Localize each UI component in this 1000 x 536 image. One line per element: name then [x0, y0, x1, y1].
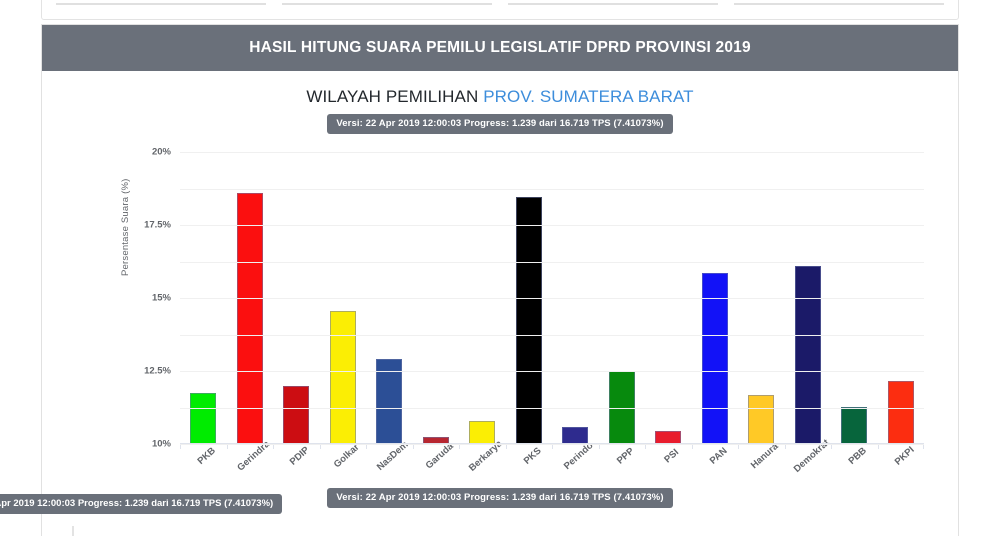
progress-badge: Versi: 22 Apr 2019 12:00:03 Progress: 1.…	[327, 114, 672, 134]
stub-line	[282, 3, 492, 5]
plot-area: PKBGerindraPDIPGolkarNasDemGarudaBerkary…	[180, 152, 924, 444]
bar[interactable]	[888, 381, 914, 444]
x-axis-tick-label: PBB	[847, 445, 869, 467]
y-axis-title: Persentase Suara (%)	[120, 179, 131, 276]
overflow-progress-badge: Versi: 22 Apr 2019 12:00:03 Progress: 1.…	[0, 494, 282, 514]
gridline: 17.5%	[180, 189, 924, 190]
gridline: 0%	[180, 444, 924, 445]
bar[interactable]	[283, 386, 309, 444]
y-axis-tick-label: 15%	[152, 293, 171, 304]
gridline: 10%	[180, 298, 924, 299]
x-axis-tick-label: PAN	[708, 446, 730, 467]
bar[interactable]	[795, 266, 821, 444]
stub-line	[508, 3, 718, 5]
result-card: HASIL HITUNG SUARA PEMILU LEGISLATIF DPR…	[41, 24, 959, 512]
dapil-heading: WILAYAH PEMILIHAN PROV. SUMATERA BARAT	[42, 71, 958, 107]
gridline: 12.5%	[180, 262, 924, 263]
gridline: 20%	[180, 152, 924, 153]
stub-line	[734, 3, 944, 5]
x-axis-tick-label: PSI	[663, 447, 682, 465]
bottom-panel-stub	[41, 512, 959, 536]
x-axis-tick-label: PKPI	[893, 445, 917, 468]
bar[interactable]	[841, 407, 867, 444]
x-axis-tick-label: PKS	[521, 445, 543, 466]
card-body: WILAYAH PEMILIHAN PROV. SUMATERA BARAT V…	[42, 71, 958, 512]
top-panel-stub	[41, 0, 959, 20]
y-axis-tick-label: 20%	[152, 147, 171, 158]
bar[interactable]	[562, 427, 588, 444]
y-axis-tick-label: 17.5%	[144, 220, 171, 231]
dapil-name[interactable]: PROV. SUMATERA BARAT	[483, 87, 693, 106]
stub-line	[56, 3, 266, 5]
x-axis-tick-label: Hanura	[749, 441, 781, 471]
gridline: 2.5%	[180, 408, 924, 409]
bar[interactable]	[237, 193, 263, 444]
progress-badge-row: Versi: 22 Apr 2019 12:00:03 Progress: 1.…	[42, 114, 958, 134]
x-axis-tick-label: Garuda	[423, 441, 455, 471]
gridline: 7.5%	[180, 335, 924, 336]
page-root: HASIL HITUNG SUARA PEMILU LEGISLATIF DPR…	[0, 0, 1000, 536]
x-axis-tick-label: PPP	[615, 446, 636, 467]
x-axis-tick-label: Golkar	[332, 442, 362, 470]
y-axis-tick-label: 10%	[152, 439, 171, 450]
stub-line	[72, 526, 74, 536]
gridline: 5%	[180, 371, 924, 372]
card-header: HASIL HITUNG SUARA PEMILU LEGISLATIF DPR…	[42, 25, 958, 71]
bar[interactable]	[376, 359, 402, 444]
gridline: 15%	[180, 225, 924, 226]
bar[interactable]	[330, 311, 356, 444]
x-axis-tick-label: PKB	[196, 445, 218, 467]
dapil-prefix-label: WILAYAH PEMILIHAN	[306, 87, 478, 106]
footer-progress-badge: Versi: 22 Apr 2019 12:00:03 Progress: 1.…	[327, 488, 672, 508]
bar[interactable]	[748, 395, 774, 444]
page-title: HASIL HITUNG SUARA PEMILU LEGISLATIF DPR…	[249, 39, 751, 57]
bar[interactable]	[469, 421, 495, 444]
y-axis-tick-label: 12.5%	[144, 366, 171, 377]
chart-container: Persentase Suara (%) PKBGerindraPDIPGolk…	[42, 146, 958, 476]
bar[interactable]	[190, 393, 216, 444]
x-axis-tick-label: PDIP	[288, 445, 312, 468]
